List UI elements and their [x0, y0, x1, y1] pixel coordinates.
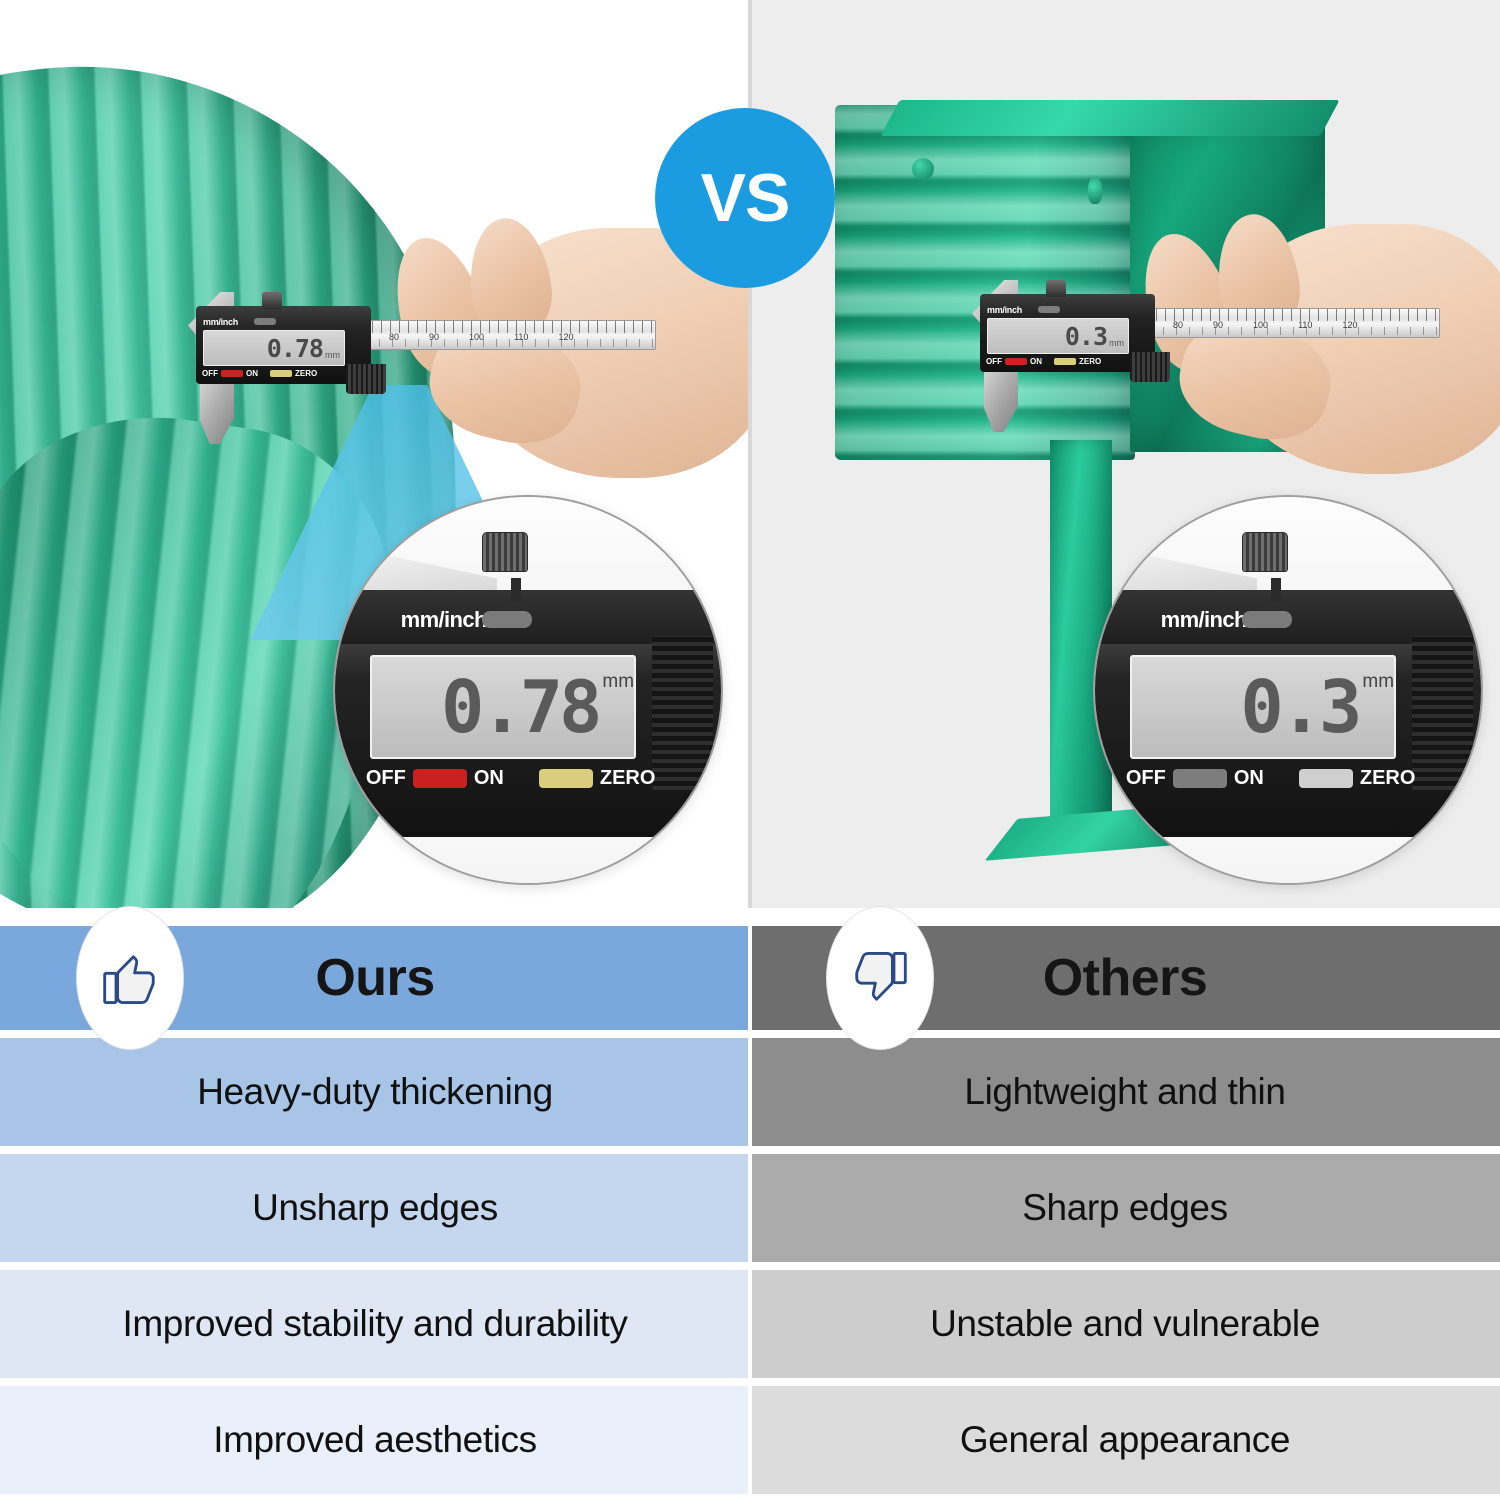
magnifier-reading-unit: mm — [602, 671, 634, 693]
table-row: Unstable and vulnerable — [750, 1270, 1500, 1378]
table-row: Heavy-duty thickening — [0, 1038, 750, 1146]
caliper-on-label: ON — [1030, 357, 1042, 366]
thumbs-down-badge — [826, 906, 934, 1050]
caliper-ruler-numbers: 70 80 90 100 110 120 — [327, 332, 655, 344]
magnifier-screw-stem — [511, 578, 521, 602]
magnifier-thumb-screw-icon — [1242, 532, 1288, 572]
magnifier-reading: 0.78 — [441, 673, 598, 741]
caliper-off-label: OFF — [202, 369, 218, 378]
magnifier-zero-button[interactable] — [539, 769, 593, 788]
table-row: Sharp edges — [750, 1154, 1500, 1262]
table-row: General appearance — [750, 1386, 1500, 1494]
column-others: Others Lightweight and thin Sharp edges … — [750, 908, 1500, 1500]
comparison-table: Ours Heavy-duty thickening Unsharp edges… — [0, 908, 1500, 1500]
caliper-unit-button[interactable] — [1038, 306, 1060, 313]
caliper-ruler-beam: 70 80 90 100 110 120 — [1110, 308, 1440, 338]
caliper-zero-label: ZERO — [295, 369, 317, 378]
caliper-thumb-screw-icon — [1046, 280, 1066, 297]
magnifier-grip-ridges — [1412, 636, 1474, 790]
magnifier-lcd-display: 0.78 mm — [370, 655, 636, 759]
magnifier-control-row: OFF ON ZERO — [1126, 767, 1416, 790]
caliper-unit-label: mm/inch — [203, 317, 238, 327]
caliper-body: mm/inch 0.78 mm OFF ON ZERO — [196, 306, 371, 384]
magnifier-off-label: OFF — [366, 767, 406, 790]
caliper-zero-button[interactable] — [270, 370, 292, 377]
magnifier-on-label: ON — [474, 767, 504, 790]
row-label: Heavy-duty thickening — [197, 1071, 553, 1113]
green-planter-box-rim — [880, 100, 1339, 136]
ruler-tick-2: 90 — [1213, 320, 1223, 332]
caliper-control-row: OFF ON ZERO — [202, 369, 317, 378]
thumbs-down-icon — [849, 947, 911, 1009]
caliper-unit-button[interactable] — [254, 318, 276, 325]
table-row: Improved stability and durability — [0, 1270, 750, 1378]
row-label: Unstable and vulnerable — [930, 1303, 1320, 1345]
ruler-tick-1: 80 — [389, 332, 399, 344]
magnifier-off-label: OFF — [1126, 767, 1166, 790]
caliper-power-switch[interactable] — [221, 370, 243, 377]
ruler-tick-2: 90 — [429, 332, 439, 344]
magnifier-unit-button[interactable] — [1242, 611, 1292, 628]
magnifier-zero-label: ZERO — [600, 767, 656, 790]
comparison-infographic: 70 80 90 100 110 120 mm/inch 0.78 mm — [0, 0, 1500, 1500]
magnifier-thumb-screw-icon — [482, 532, 528, 572]
magnifier-power-switch[interactable] — [1173, 769, 1227, 788]
caliper-body: mm/inch 0.3 mm OFF ON ZERO — [980, 294, 1155, 372]
caliper-reading-unit: mm — [325, 350, 340, 360]
table-row: Improved aesthetics — [0, 1386, 750, 1494]
ruler-tick-3: 100 — [469, 332, 484, 344]
table-row: Lightweight and thin — [750, 1038, 1500, 1146]
ruler-tick-3: 100 — [1253, 320, 1268, 332]
column-ours: Ours Heavy-duty thickening Unsharp edges… — [0, 908, 750, 1500]
thumbs-up-badge — [76, 906, 184, 1050]
magnifier-zero-button[interactable] — [1299, 769, 1353, 788]
magnifier-reading-unit: mm — [1362, 671, 1394, 693]
magnifier-lcd-display: 0.3 mm — [1130, 655, 1396, 759]
ruler-tick-1: 80 — [1173, 320, 1183, 332]
row-label: Sharp edges — [1022, 1187, 1227, 1229]
ruler-tick-4: 110 — [514, 332, 528, 344]
ruler-tick-4: 110 — [1298, 320, 1312, 332]
magnifier-screw-stem — [1271, 578, 1281, 602]
ruler-tick-5: 120 — [558, 332, 573, 344]
magnifier-left: mm/inch 0.78 mm OFF ON ZERO — [333, 495, 723, 885]
caliper-zero-button[interactable] — [1054, 358, 1076, 365]
caliper-off-label: OFF — [986, 357, 1002, 366]
caliper-reading-unit: mm — [1109, 338, 1124, 348]
photo-others: 70 80 90 100 110 120 mm/inch 0.3 mm — [750, 0, 1500, 908]
magnifier-grip-ridges — [652, 636, 714, 790]
row-label: Unsharp edges — [252, 1187, 498, 1229]
magnifier-right: mm/inch 0.3 mm OFF ON ZERO — [1093, 495, 1483, 885]
thumbs-up-icon — [99, 947, 161, 1009]
table-center-divider — [748, 908, 752, 1500]
magnifier-unit-label: mm/inch — [401, 607, 487, 633]
caliper-control-row: OFF ON ZERO — [986, 357, 1101, 366]
photo-comparison-area: 70 80 90 100 110 120 mm/inch 0.78 mm — [0, 0, 1500, 908]
caliper-ruler-beam: 70 80 90 100 110 120 — [326, 320, 656, 350]
header-ours: Ours — [0, 926, 750, 1030]
caliper-thumb-screw-icon — [262, 292, 282, 309]
row-label: Improved stability and durability — [122, 1303, 627, 1345]
caliper-ruler-numbers: 70 80 90 100 110 120 — [1111, 320, 1439, 332]
vs-badge: VS — [655, 108, 835, 288]
magnifier-control-row: OFF ON ZERO — [366, 767, 656, 790]
caliper-on-label: ON — [246, 369, 258, 378]
magnifier-zero-label: ZERO — [1360, 767, 1416, 790]
caliper-thumb-wheel[interactable] — [346, 364, 386, 394]
caliper-power-switch[interactable] — [1005, 358, 1027, 365]
caliper-lcd-display: 0.3 mm — [987, 318, 1129, 354]
row-label: Improved aesthetics — [213, 1419, 537, 1461]
planter-box-knob-1 — [912, 158, 934, 180]
row-label: General appearance — [960, 1419, 1290, 1461]
caliper-unit-label: mm/inch — [987, 305, 1022, 315]
photo-ours: 70 80 90 100 110 120 mm/inch 0.78 mm — [0, 0, 750, 908]
magnifier-on-label: ON — [1234, 767, 1264, 790]
caliper-zero-label: ZERO — [1079, 357, 1101, 366]
vs-badge-label: VS — [701, 159, 790, 237]
planter-box-knob-2 — [1088, 178, 1102, 204]
magnifier-power-switch[interactable] — [413, 769, 467, 788]
magnifier-unit-label: mm/inch — [1161, 607, 1247, 633]
caliper-reading: 0.78 — [267, 336, 323, 361]
caliper-reading: 0.3 — [1065, 324, 1107, 349]
magnifier-unit-button[interactable] — [482, 611, 532, 628]
row-label: Lightweight and thin — [964, 1071, 1285, 1113]
magnifier-reading: 0.3 — [1240, 673, 1358, 741]
ruler-tick-5: 120 — [1342, 320, 1357, 332]
table-row: Unsharp edges — [0, 1154, 750, 1262]
caliper-thumb-wheel[interactable] — [1130, 352, 1170, 382]
caliper-lcd-display: 0.78 mm — [203, 330, 345, 366]
header-others: Others — [750, 926, 1500, 1030]
